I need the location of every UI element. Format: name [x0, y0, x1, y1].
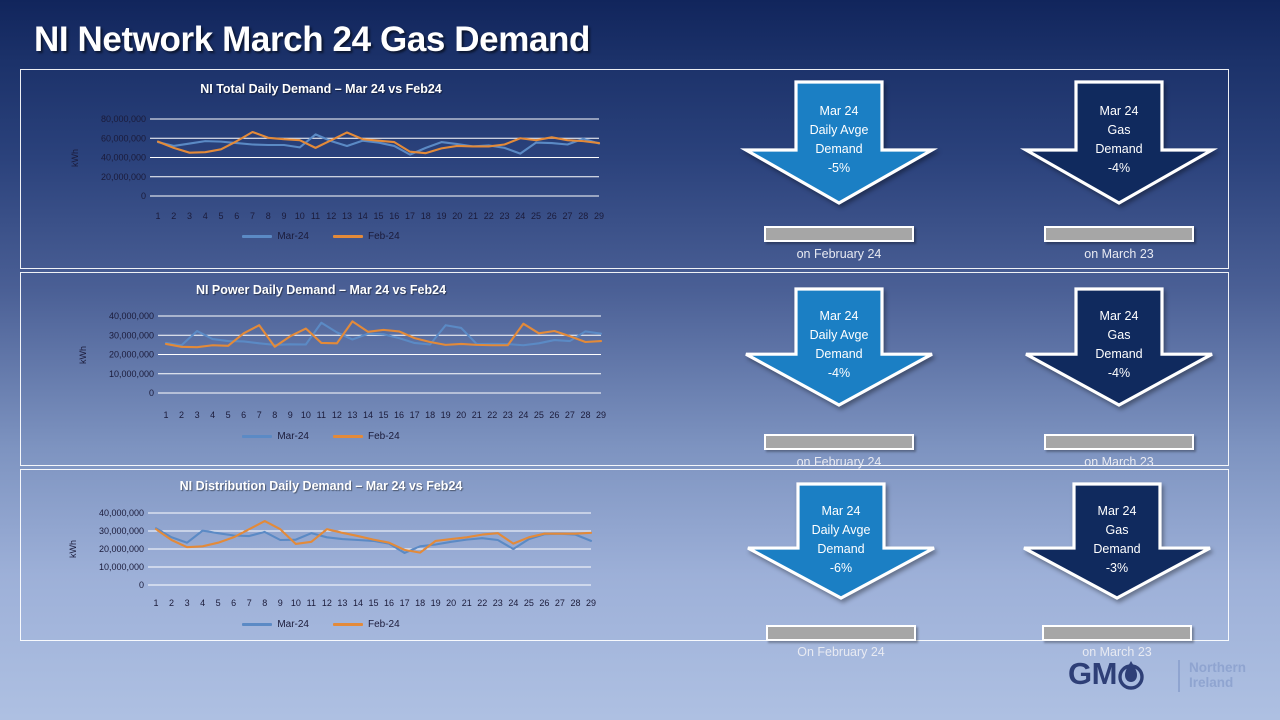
svg-text:40,000,000: 40,000,000	[109, 311, 154, 321]
legend-label: Mar-24	[277, 431, 309, 442]
svg-text:10,000,000: 10,000,000	[99, 562, 144, 572]
baseline-bar	[1044, 434, 1194, 450]
svg-text:28: 28	[578, 211, 588, 221]
svg-text:10: 10	[295, 211, 305, 221]
svg-text:27: 27	[555, 598, 565, 608]
svg-text:20,000,000: 20,000,000	[99, 544, 144, 554]
svg-text:15: 15	[368, 598, 378, 608]
svg-text:24: 24	[508, 598, 518, 608]
svg-text:6: 6	[234, 211, 239, 221]
svg-text:1: 1	[153, 598, 158, 608]
svg-text:30,000,000: 30,000,000	[109, 330, 154, 340]
svg-text:5: 5	[216, 598, 221, 608]
svg-text:25: 25	[534, 410, 544, 420]
down-arrow-icon	[1004, 80, 1234, 205]
svg-text:3: 3	[195, 410, 200, 420]
svg-text:2: 2	[171, 211, 176, 221]
svg-text:22: 22	[484, 211, 494, 221]
chart-legend: Mar-24Feb-24	[21, 431, 621, 442]
svg-text:18: 18	[421, 211, 431, 221]
svg-text:20,000,000: 20,000,000	[101, 172, 146, 182]
svg-text:22: 22	[477, 598, 487, 608]
daily-avge-demand-callout: Mar 24Daily AvgeDemand-4%on February 24	[724, 287, 954, 477]
svg-text:17: 17	[400, 598, 410, 608]
svg-text:2: 2	[169, 598, 174, 608]
gas-demand-callout: Mar 24GasDemand-3%on March 23	[1002, 482, 1232, 667]
callout-caption: On February 24	[726, 645, 956, 659]
gmo-northern-ireland-logo: GM Northern Ireland	[1068, 652, 1268, 704]
legend-swatch	[333, 435, 363, 438]
svg-text:14: 14	[358, 211, 368, 221]
svg-text:40,000,000: 40,000,000	[101, 153, 146, 163]
svg-text:8: 8	[266, 211, 271, 221]
svg-text:80,000,000: 80,000,000	[101, 114, 146, 124]
svg-text:15: 15	[373, 211, 383, 221]
demand-panel-total: NI Total Daily Demand – Mar 24 vs Feb24k…	[20, 69, 1229, 269]
svg-text:4: 4	[210, 410, 215, 420]
logo-divider	[1178, 660, 1180, 692]
legend-label: Mar-24	[277, 619, 309, 630]
svg-text:21: 21	[468, 211, 478, 221]
svg-text:11: 11	[311, 211, 320, 221]
page-title: NI Network March 24 Gas Demand	[34, 20, 590, 60]
chart-legend: Mar-24Feb-24	[21, 619, 621, 630]
svg-text:9: 9	[281, 211, 286, 221]
svg-text:0: 0	[149, 388, 154, 398]
svg-text:29: 29	[594, 211, 604, 221]
svg-text:16: 16	[384, 598, 394, 608]
svg-text:60,000,000: 60,000,000	[101, 133, 146, 143]
baseline-bar	[764, 226, 914, 242]
svg-text:26: 26	[539, 598, 549, 608]
svg-text:7: 7	[257, 410, 262, 420]
svg-text:16: 16	[394, 410, 404, 420]
svg-text:20: 20	[456, 410, 466, 420]
legend-item: Mar-24	[242, 619, 309, 630]
svg-text:25: 25	[531, 211, 541, 221]
legend-item: Feb-24	[333, 619, 400, 630]
legend-item: Mar-24	[242, 431, 309, 442]
daily-avge-demand-callout: Mar 24Daily AvgeDemand-6%On February 24	[726, 482, 956, 667]
svg-text:23: 23	[493, 598, 503, 608]
svg-text:28: 28	[580, 410, 590, 420]
svg-text:20,000,000: 20,000,000	[109, 350, 154, 360]
svg-text:20: 20	[452, 211, 462, 221]
legend-label: Feb-24	[368, 619, 400, 630]
svg-text:8: 8	[262, 598, 267, 608]
baseline-bar	[764, 434, 914, 450]
svg-text:11: 11	[317, 410, 326, 420]
svg-text:10: 10	[301, 410, 311, 420]
chart-legend: Mar-24Feb-24	[21, 231, 621, 242]
svg-text:14: 14	[353, 598, 363, 608]
svg-text:18: 18	[415, 598, 425, 608]
demand-panel-distribution: NI Distribution Daily Demand – Mar 24 vs…	[20, 469, 1229, 641]
svg-text:24: 24	[518, 410, 528, 420]
svg-text:12: 12	[326, 211, 336, 221]
callout-caption: on February 24	[724, 455, 954, 469]
down-arrow-icon	[1002, 482, 1232, 600]
svg-text:0: 0	[139, 580, 144, 590]
legend-item: Mar-24	[242, 231, 309, 242]
svg-text:25: 25	[524, 598, 534, 608]
down-arrow-icon	[1004, 287, 1234, 407]
svg-text:5: 5	[218, 211, 223, 221]
svg-text:1: 1	[155, 211, 160, 221]
svg-text:27: 27	[562, 211, 572, 221]
baseline-bar	[1042, 625, 1192, 641]
svg-text:3: 3	[185, 598, 190, 608]
svg-text:12: 12	[332, 410, 342, 420]
svg-text:24: 24	[515, 211, 525, 221]
svg-text:6: 6	[241, 410, 246, 420]
svg-text:29: 29	[596, 410, 606, 420]
plot-area: 010,000,00020,000,00030,000,00040,000,00…	[21, 470, 621, 642]
down-arrow-icon	[726, 482, 956, 600]
logo-subtext-line2: Ireland	[1189, 675, 1246, 690]
chart-total: NI Total Daily Demand – Mar 24 vs Feb24k…	[21, 70, 621, 268]
gas-demand-callout: Mar 24GasDemand-4%on March 23	[1004, 80, 1234, 269]
svg-text:28: 28	[570, 598, 580, 608]
svg-text:7: 7	[247, 598, 252, 608]
flame-icon	[1118, 658, 1144, 690]
legend-swatch	[242, 235, 272, 238]
svg-text:7: 7	[250, 211, 255, 221]
svg-text:14: 14	[363, 410, 373, 420]
daily-avge-demand-callout: Mar 24Daily AvgeDemand-5%on February 24	[724, 80, 954, 269]
svg-text:10: 10	[291, 598, 301, 608]
svg-text:23: 23	[499, 211, 509, 221]
svg-text:9: 9	[278, 598, 283, 608]
svg-text:2: 2	[179, 410, 184, 420]
svg-text:1: 1	[163, 410, 168, 420]
legend-swatch	[242, 623, 272, 626]
callout-caption: on March 23	[1004, 455, 1234, 469]
legend-swatch	[333, 235, 363, 238]
svg-text:5: 5	[226, 410, 231, 420]
legend-label: Mar-24	[277, 231, 309, 242]
down-arrow-icon	[724, 80, 954, 205]
callout-caption: on March 23	[1004, 247, 1234, 261]
logo-subtext-line1: Northern	[1189, 660, 1246, 675]
legend-label: Feb-24	[368, 431, 400, 442]
svg-text:17: 17	[410, 410, 420, 420]
svg-text:4: 4	[200, 598, 205, 608]
logo-subtext: Northern Ireland	[1189, 660, 1246, 690]
legend-swatch	[333, 623, 363, 626]
svg-text:19: 19	[436, 211, 446, 221]
callout-caption: on February 24	[724, 247, 954, 261]
svg-text:23: 23	[503, 410, 513, 420]
svg-text:0: 0	[141, 191, 146, 201]
svg-text:15: 15	[378, 410, 388, 420]
svg-text:27: 27	[565, 410, 575, 420]
legend-swatch	[242, 435, 272, 438]
svg-text:4: 4	[203, 211, 208, 221]
svg-text:13: 13	[337, 598, 347, 608]
svg-text:26: 26	[549, 410, 559, 420]
svg-text:3: 3	[187, 211, 192, 221]
svg-text:18: 18	[425, 410, 435, 420]
svg-text:21: 21	[472, 410, 482, 420]
legend-item: Feb-24	[333, 431, 400, 442]
svg-text:10,000,000: 10,000,000	[109, 369, 154, 379]
svg-text:13: 13	[347, 410, 357, 420]
svg-text:19: 19	[431, 598, 441, 608]
baseline-bar	[1044, 226, 1194, 242]
svg-text:29: 29	[586, 598, 596, 608]
svg-text:8: 8	[272, 410, 277, 420]
down-arrow-icon	[724, 287, 954, 407]
svg-text:20: 20	[446, 598, 456, 608]
svg-text:19: 19	[441, 410, 451, 420]
svg-text:16: 16	[389, 211, 399, 221]
logo-wordmark: GM	[1068, 656, 1144, 692]
chart-power: NI Power Daily Demand – Mar 24 vs Feb24k…	[21, 273, 621, 465]
chart-distribution: NI Distribution Daily Demand – Mar 24 vs…	[21, 470, 621, 640]
svg-text:26: 26	[547, 211, 557, 221]
svg-text:30,000,000: 30,000,000	[99, 526, 144, 536]
svg-text:22: 22	[487, 410, 497, 420]
svg-text:17: 17	[405, 211, 415, 221]
gas-demand-callout: Mar 24GasDemand-4%on March 23	[1004, 287, 1234, 477]
logo-mark-text: GM	[1068, 656, 1117, 691]
legend-item: Feb-24	[333, 231, 400, 242]
legend-label: Feb-24	[368, 231, 400, 242]
svg-text:21: 21	[462, 598, 472, 608]
svg-text:40,000,000: 40,000,000	[99, 508, 144, 518]
demand-panel-power: NI Power Daily Demand – Mar 24 vs Feb24k…	[20, 272, 1229, 466]
svg-text:12: 12	[322, 598, 332, 608]
svg-text:9: 9	[288, 410, 293, 420]
svg-text:13: 13	[342, 211, 352, 221]
baseline-bar	[766, 625, 916, 641]
svg-text:11: 11	[307, 598, 316, 608]
svg-text:6: 6	[231, 598, 236, 608]
